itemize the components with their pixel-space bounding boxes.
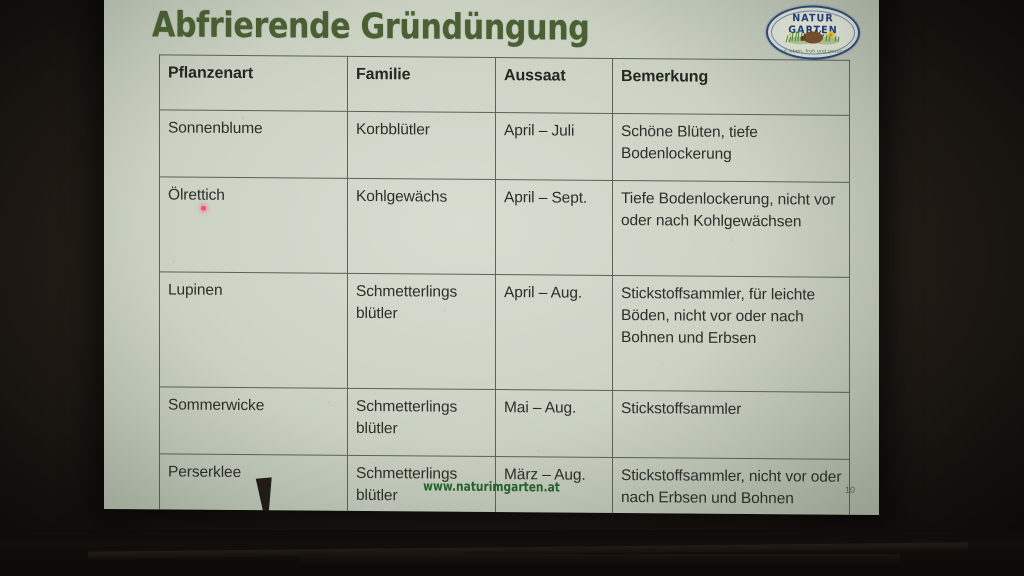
table-header-row: Pflanzenart Familie Aussaat Bemerkung [160,55,850,115]
cell-aussaat: April – Juli [496,112,613,180]
cell-bemerkung: Stickstoffsammler [613,390,850,459]
column-header-bemerkung: Bemerkung [613,58,850,115]
column-header-pflanzenart: Pflanzenart [160,55,348,111]
cell-pflanzenart: Sonnenblume [160,110,348,178]
cell-aussaat: April – Aug. [496,274,613,390]
column-header-familie: Familie [348,56,496,112]
cell-bemerkung: Schöne Blüten, tiefe Bodenlockerung [613,113,850,182]
slide-title: Abfrierende Gründüngung [152,7,758,50]
desk-lower-panel [300,554,900,568]
logo-tagline: Gesund leben, froh und gesund sein [768,49,858,55]
natur-im-garten-logo: NATUR GARTEN Gesund leben, fr [766,5,860,60]
green-manure-table: Pflanzenart Familie Aussaat Bemerkung So… [159,54,850,515]
cell-familie: Schmetterlings blütler [348,273,496,389]
cell-familie: Schmetterlings blütler [348,388,496,456]
hedgehog-illustration [780,24,846,46]
table-row: Sommerwicke Schmetterlings blütler Mai –… [160,387,850,459]
cell-familie: Korbblütler [348,111,496,179]
table-row: Lupinen Schmetterlings blütler April – A… [160,272,850,392]
cell-aussaat: Mai – Aug. [496,389,613,457]
cell-pflanzenart: Ölrettich [160,177,348,273]
cell-aussaat: April – Sept. [496,179,613,275]
cell-bemerkung: Tiefe Bodenlockerung, nicht vor oder nac… [613,180,850,277]
laser-pointer-dot [201,206,206,211]
projection-room: Abfrierende Gründüngung NATUR GARTEN [0,0,1024,576]
table-row: Sonnenblume Korbblütler April – Juli Sch… [160,110,850,182]
cell-bemerkung: Stickstoffsammler, für leichte Böden, ni… [613,275,850,392]
projection-screen: Abfrierende Gründüngung NATUR GARTEN [104,0,879,515]
table-row: Ölrettich Kohlgewächs April – Sept. Tief… [160,177,850,277]
cell-pflanzenart: Sommerwicke [160,387,348,455]
dark-foreground-desk [0,530,1024,576]
presentation-slide: Abfrierende Gründüngung NATUR GARTEN [104,0,879,515]
slide-page-number: 10 [845,485,855,495]
cell-pflanzenart: Lupinen [160,272,348,388]
column-header-aussaat: Aussaat [496,57,613,113]
cell-familie: Kohlgewächs [348,178,496,274]
